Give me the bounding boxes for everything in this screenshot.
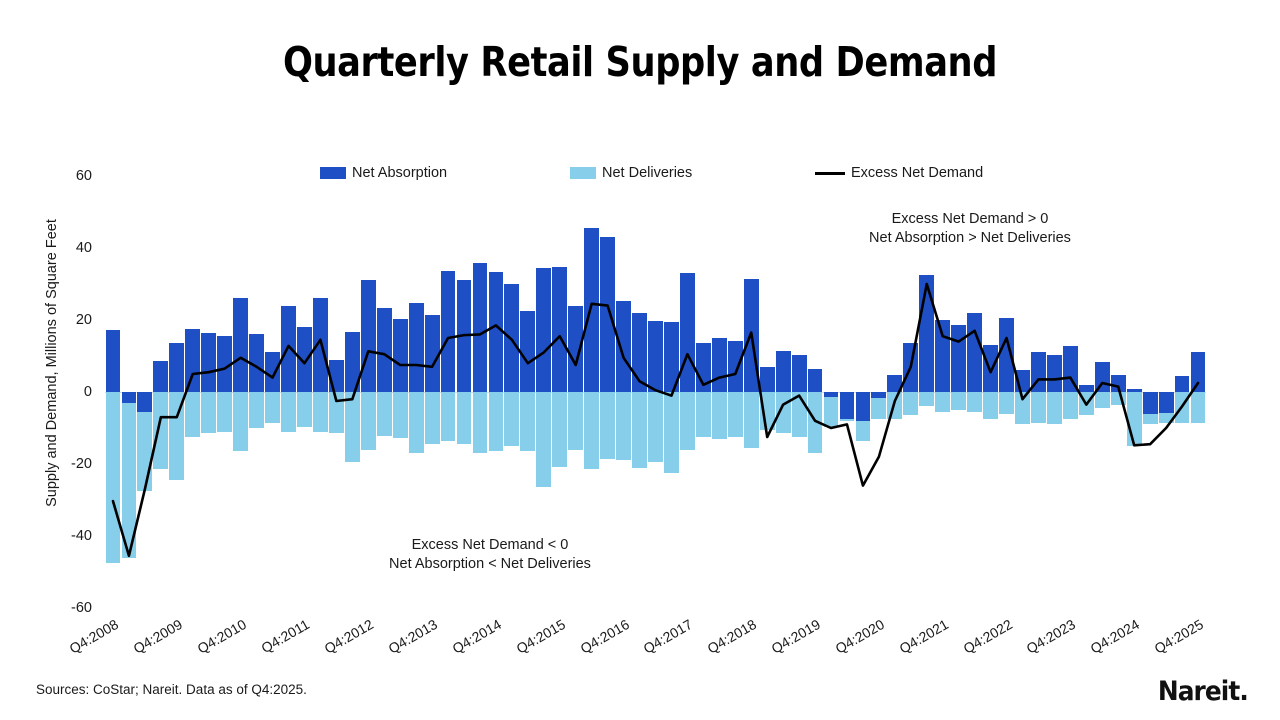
source-note: Sources: CoStar; Nareit. Data as of Q4:2… <box>36 682 307 697</box>
nareit-logo: Nareit. <box>1158 676 1248 707</box>
annotation-positive: Excess Net Demand > 0 Net Absorption > N… <box>815 210 1125 248</box>
annotation-negative-line1: Excess Net Demand < 0 <box>335 536 645 555</box>
x-axis-labels: Q4:2008Q4:2009Q4:2010Q4:2011Q4:2012Q4:20… <box>0 0 1280 720</box>
annotation-negative: Excess Net Demand < 0 Net Absorption < N… <box>335 536 645 574</box>
annotation-positive-line2: Net Absorption > Net Deliveries <box>815 229 1125 248</box>
annotation-negative-line2: Net Absorption < Net Deliveries <box>335 555 645 574</box>
annotation-positive-line1: Excess Net Demand > 0 <box>815 210 1125 229</box>
